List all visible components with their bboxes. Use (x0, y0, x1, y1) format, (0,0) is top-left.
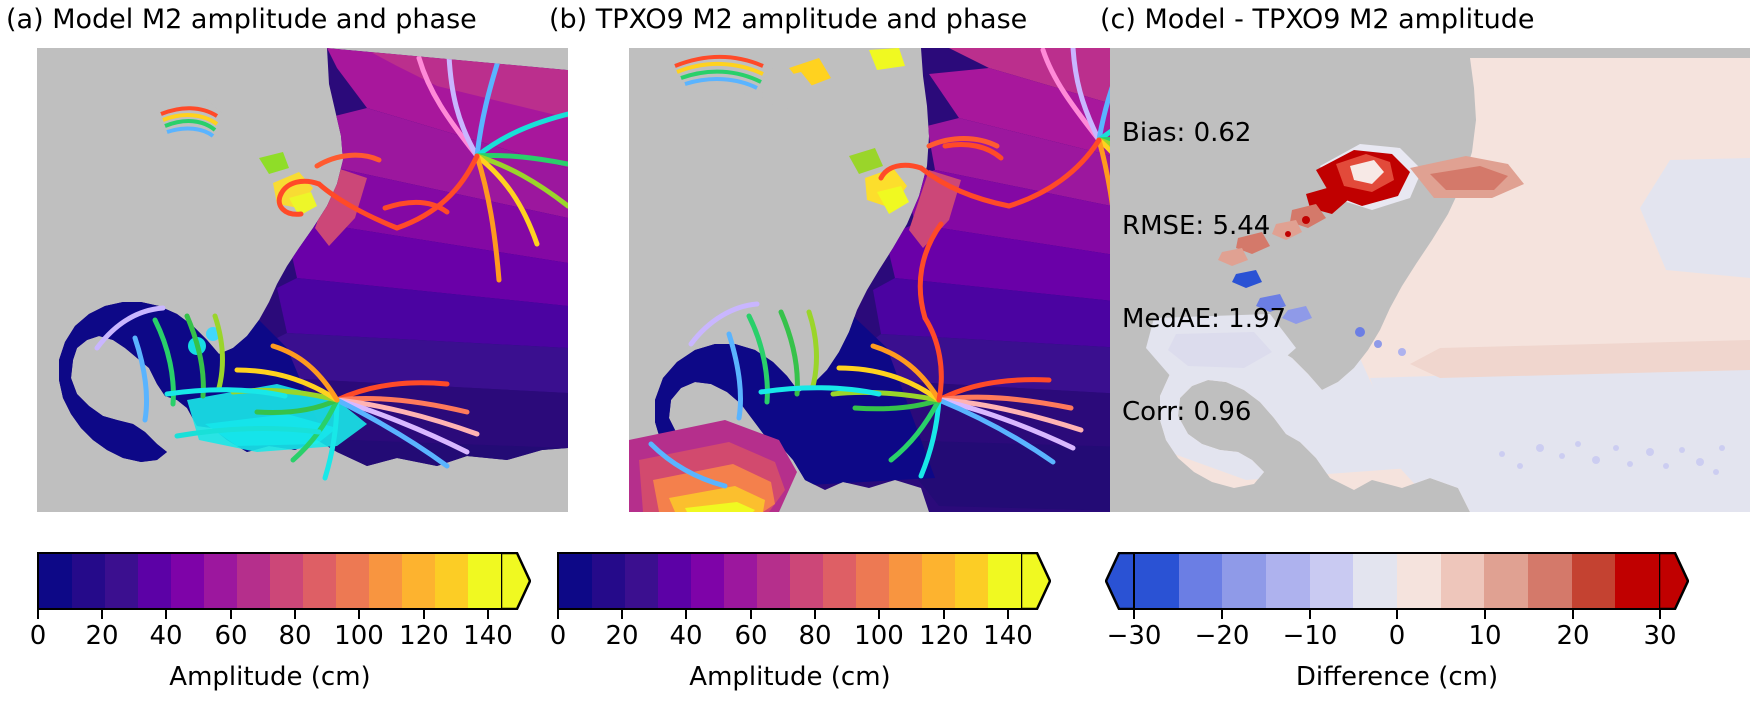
cbar-seg (757, 554, 790, 608)
stat-bias: Bias: 0.62 (1122, 118, 1286, 149)
cbar-seg (1353, 554, 1397, 608)
cbar-seg (691, 554, 724, 608)
colorbar-amplitude-b: 0 20 40 60 80 100 120 140 Amplitude (cm) (557, 552, 1053, 672)
colorbar-a-gradient (37, 552, 503, 610)
tick-mark (37, 610, 39, 619)
cbar-seg (204, 554, 237, 608)
colorbar-amplitude-a: 0 20 40 60 80 100 120 140 Amplitude (cm) (37, 552, 533, 672)
tick-mark (487, 610, 489, 619)
cbar-seg (1528, 554, 1572, 608)
tick-label: 30 (1643, 621, 1676, 651)
cbar-seg (856, 554, 889, 608)
colorbar-c-label: Difference (cm) (1133, 662, 1661, 692)
cbar-seg (171, 554, 204, 608)
cbar-seg (1222, 554, 1266, 608)
cbar-seg (39, 554, 72, 608)
tick-mark (1309, 610, 1311, 619)
stat-corr: Corr: 0.96 (1122, 397, 1286, 428)
panel-a-map-graphic (37, 48, 568, 512)
cbar-seg (955, 554, 988, 608)
cbar-seg (1441, 554, 1485, 608)
tick-label: 80 (278, 621, 311, 651)
colorbar-c-extend-min (1105, 552, 1135, 610)
cbar-seg (1179, 554, 1223, 608)
tick-mark (685, 610, 687, 619)
cbar-seg (468, 554, 501, 608)
cbar-seg (1572, 554, 1616, 608)
stats-annotation: Bias: 0.62 RMSE: 5.44 MedAE: 1.97 Corr: … (1122, 56, 1286, 490)
cbar-seg (592, 554, 625, 608)
cbar-seg (336, 554, 369, 608)
tick-mark (1484, 610, 1486, 619)
cbar-seg (402, 554, 435, 608)
cbar-seg (823, 554, 856, 608)
cbar-seg (1397, 554, 1441, 608)
cbar-seg (1615, 554, 1659, 608)
cbar-seg (1310, 554, 1354, 608)
tick-mark (1221, 610, 1223, 619)
tick-mark (1007, 610, 1009, 619)
cbar-seg (724, 554, 757, 608)
tick-label: −20 (1195, 621, 1250, 651)
cbar-seg (922, 554, 955, 608)
tick-mark (621, 610, 623, 619)
colorbar-b-ticks: 0 20 40 60 80 100 120 140 (557, 610, 1023, 620)
panel-b-title: (b) TPXO9 M2 amplitude and phase (549, 4, 1027, 36)
tick-label: 20 (605, 621, 638, 651)
cbar-seg (1484, 554, 1528, 608)
colorbar-a-label: Amplitude (cm) (37, 662, 503, 692)
cbar-seg (1135, 554, 1179, 608)
cbar-seg (237, 554, 270, 608)
panel-a-title: (a) Model M2 amplitude and phase (6, 4, 477, 36)
colorbar-b-extend-max (1021, 552, 1051, 610)
tick-label: 140 (463, 621, 513, 651)
tick-mark (1396, 610, 1398, 619)
cbar-seg (270, 554, 303, 608)
colorbar-c-gradient (1133, 552, 1661, 610)
cbar-seg (625, 554, 658, 608)
tick-mark (557, 610, 559, 619)
tick-label: 20 (1556, 621, 1589, 651)
tick-label: 0 (550, 621, 567, 651)
tick-label: 60 (214, 621, 247, 651)
tick-label: 120 (919, 621, 969, 651)
tick-mark (1659, 610, 1661, 619)
cbar-seg (435, 554, 468, 608)
tick-mark (294, 610, 296, 619)
stat-medae: MedAE: 1.97 (1122, 304, 1286, 335)
cbar-seg (559, 554, 592, 608)
tick-mark (750, 610, 752, 619)
cbar-seg (988, 554, 1021, 608)
tick-label: 100 (334, 621, 384, 651)
colorbar-b-gradient (557, 552, 1023, 610)
panel-b-map-graphic (629, 48, 1160, 512)
tick-mark (814, 610, 816, 619)
tick-mark (878, 610, 880, 619)
tick-label: 120 (399, 621, 449, 651)
tick-mark (230, 610, 232, 619)
tick-label: 40 (669, 621, 702, 651)
tick-mark (423, 610, 425, 619)
cbar-seg (303, 554, 336, 608)
tick-label: 0 (1389, 621, 1406, 651)
panel-a: (a) Model M2 amplitude and phase (0, 0, 580, 721)
tick-label: 60 (734, 621, 767, 651)
stat-rmse: RMSE: 5.44 (1122, 211, 1286, 242)
cbar-seg (790, 554, 823, 608)
panel-b-map (629, 48, 1160, 512)
cbar-seg (1266, 554, 1310, 608)
cbar-seg (138, 554, 171, 608)
colorbar-b-label: Amplitude (cm) (557, 662, 1023, 692)
tick-label: 10 (1468, 621, 1501, 651)
tick-mark (165, 610, 167, 619)
cbar-seg (369, 554, 402, 608)
tick-mark (1572, 610, 1574, 619)
tick-mark (358, 610, 360, 619)
cbar-seg (72, 554, 105, 608)
colorbar-a-ticks: 0 20 40 60 80 100 120 140 (37, 610, 503, 620)
tick-label: 140 (983, 621, 1033, 651)
colorbar-c-ticks: −30 −20 −10 0 10 20 30 (1133, 610, 1661, 620)
colorbar-c-extend-max (1659, 552, 1689, 610)
panel-c-map: Bias: 0.62 RMSE: 5.44 MedAE: 1.97 Corr: … (1110, 48, 1750, 512)
colorbar-a-extend-max (501, 552, 531, 610)
tick-label: −30 (1107, 621, 1162, 651)
tick-label: 40 (149, 621, 182, 651)
cbar-seg (658, 554, 691, 608)
tick-label: 0 (30, 621, 47, 651)
cbar-seg (889, 554, 922, 608)
tick-label: 100 (854, 621, 904, 651)
tick-label: −10 (1283, 621, 1338, 651)
panel-a-map (37, 48, 568, 512)
tick-mark (1133, 610, 1135, 619)
colorbar-difference-c: −30 −20 −10 0 10 20 30 Difference (cm) (1105, 552, 1735, 672)
panel-b: (b) TPXO9 M2 amplitude and phase (549, 0, 1129, 721)
tick-label: 80 (798, 621, 831, 651)
figure-root: (a) Model M2 amplitude and phase (0, 0, 1762, 721)
tick-label: 20 (85, 621, 118, 651)
cbar-seg (105, 554, 138, 608)
panel-c-title: (c) Model - TPXO9 M2 amplitude (1100, 4, 1535, 36)
tick-mark (943, 610, 945, 619)
panel-c: (c) Model - TPXO9 M2 amplitude (1100, 0, 1762, 721)
tick-mark (101, 610, 103, 619)
